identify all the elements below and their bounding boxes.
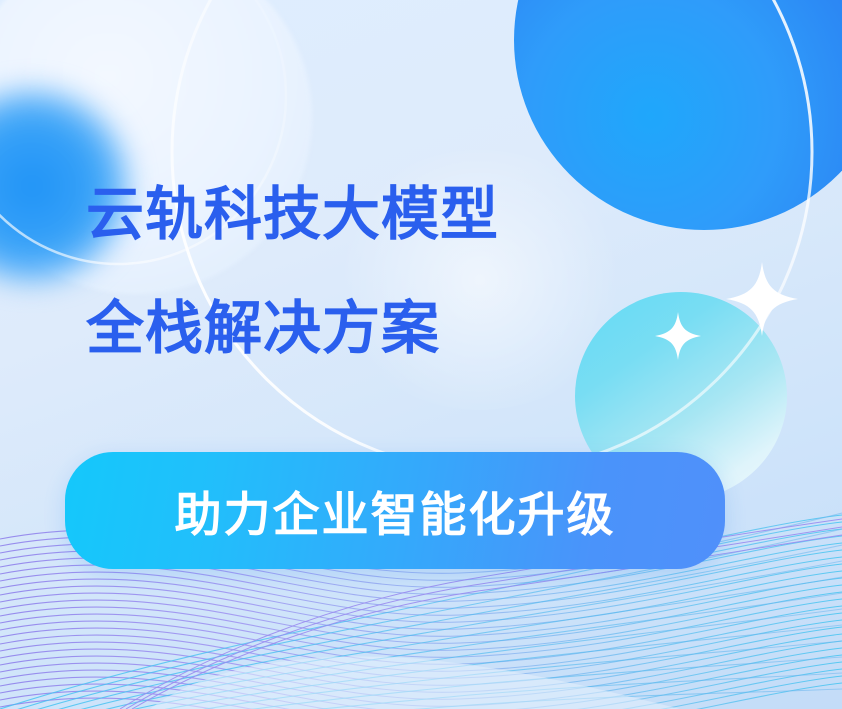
cta-button[interactable]: 助力企业智能化升级 [65,452,725,569]
cta-button-label: 助力企业智能化升级 [175,476,616,545]
page-title-line-2: 全栈解决方案 [86,300,440,358]
poster-content: 云轨科技大模型 全栈解决方案 助力企业智能化升级 [0,0,842,709]
page-title-line-1: 云轨科技大模型 [86,186,499,244]
promo-poster: 云轨科技大模型 全栈解决方案 助力企业智能化升级 [0,0,842,709]
